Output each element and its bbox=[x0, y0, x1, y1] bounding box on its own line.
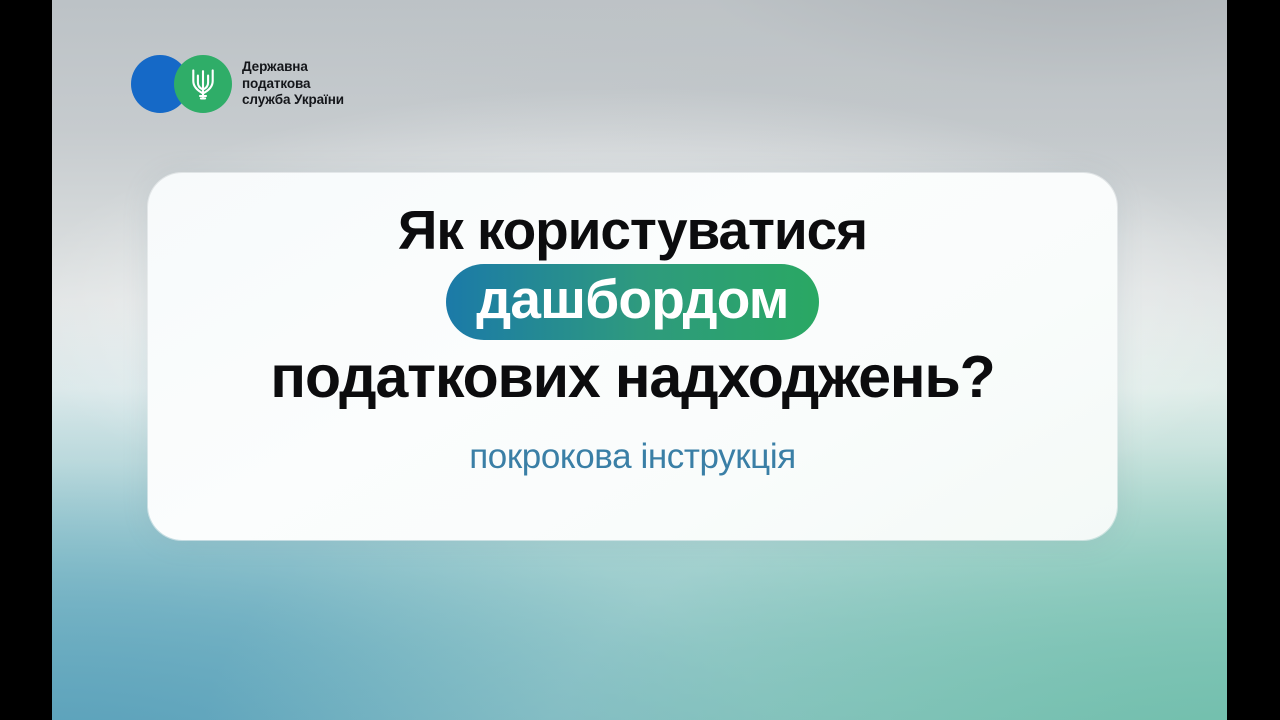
subtitle-text: покрокова інструкція bbox=[469, 437, 796, 477]
ukraine-trident-icon bbox=[174, 55, 232, 113]
headline-highlight-pill: дашбордом bbox=[446, 264, 818, 339]
brand-logo: Державна податкова служба України bbox=[131, 55, 344, 113]
slide-stage: Державна податкова служба України Як кор… bbox=[52, 0, 1227, 720]
logo-marks bbox=[131, 55, 232, 113]
headline-line-3: податкових надходжень? bbox=[270, 346, 994, 410]
title-card: Як користуватися дашбордом податкових на… bbox=[148, 173, 1117, 540]
brand-name-line-2: податкова bbox=[242, 76, 344, 93]
headline-line-1: Як користуватися bbox=[398, 201, 867, 260]
letterbox-bar-left bbox=[0, 0, 52, 720]
highlight-pill-wrapper: дашбордом bbox=[446, 264, 818, 339]
letterbox-bar-right bbox=[1227, 0, 1280, 720]
brand-name-line-1: Державна bbox=[242, 59, 344, 76]
brand-name-block: Державна податкова служба України bbox=[242, 59, 344, 109]
slide-root: Державна податкова служба України Як кор… bbox=[0, 0, 1280, 720]
brand-name-line-3: служба України bbox=[242, 92, 344, 109]
